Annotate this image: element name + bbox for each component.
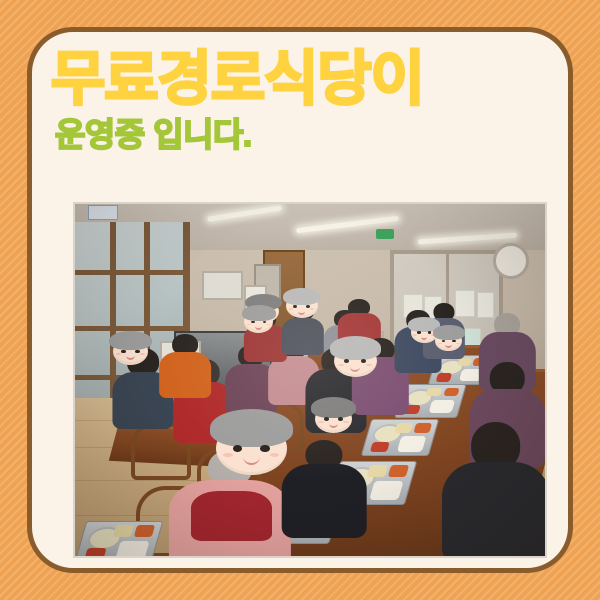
wall-clock: [493, 243, 529, 279]
face-sticker: [216, 422, 287, 475]
face-sticker: [315, 405, 353, 433]
headline-block: 무료경로식당이 운영중 입니다.: [51, 49, 551, 153]
diner: [282, 440, 367, 539]
photo-scene: [75, 204, 545, 556]
diner: [160, 334, 212, 397]
face-sticker: [334, 345, 377, 377]
meal-tray: [361, 419, 439, 456]
diner: [442, 422, 545, 556]
wall-appliance: [202, 271, 244, 300]
face-sticker: [244, 311, 273, 333]
page-title: 무료경로식당이: [51, 49, 551, 109]
page-subtitle: 운영중 입니다.: [55, 118, 551, 153]
content-card: 무료경로식당이 운영중 입니다.: [27, 27, 573, 573]
poster-card: 무료경로식당이 운영중 입니다.: [0, 0, 600, 600]
photo-frame: [73, 202, 547, 558]
meal-tray: [75, 521, 163, 556]
emergency-exit-sign: [376, 229, 394, 239]
cafeteria-photo: [75, 204, 545, 556]
face-sticker: [286, 294, 318, 318]
face-sticker: [113, 338, 149, 365]
